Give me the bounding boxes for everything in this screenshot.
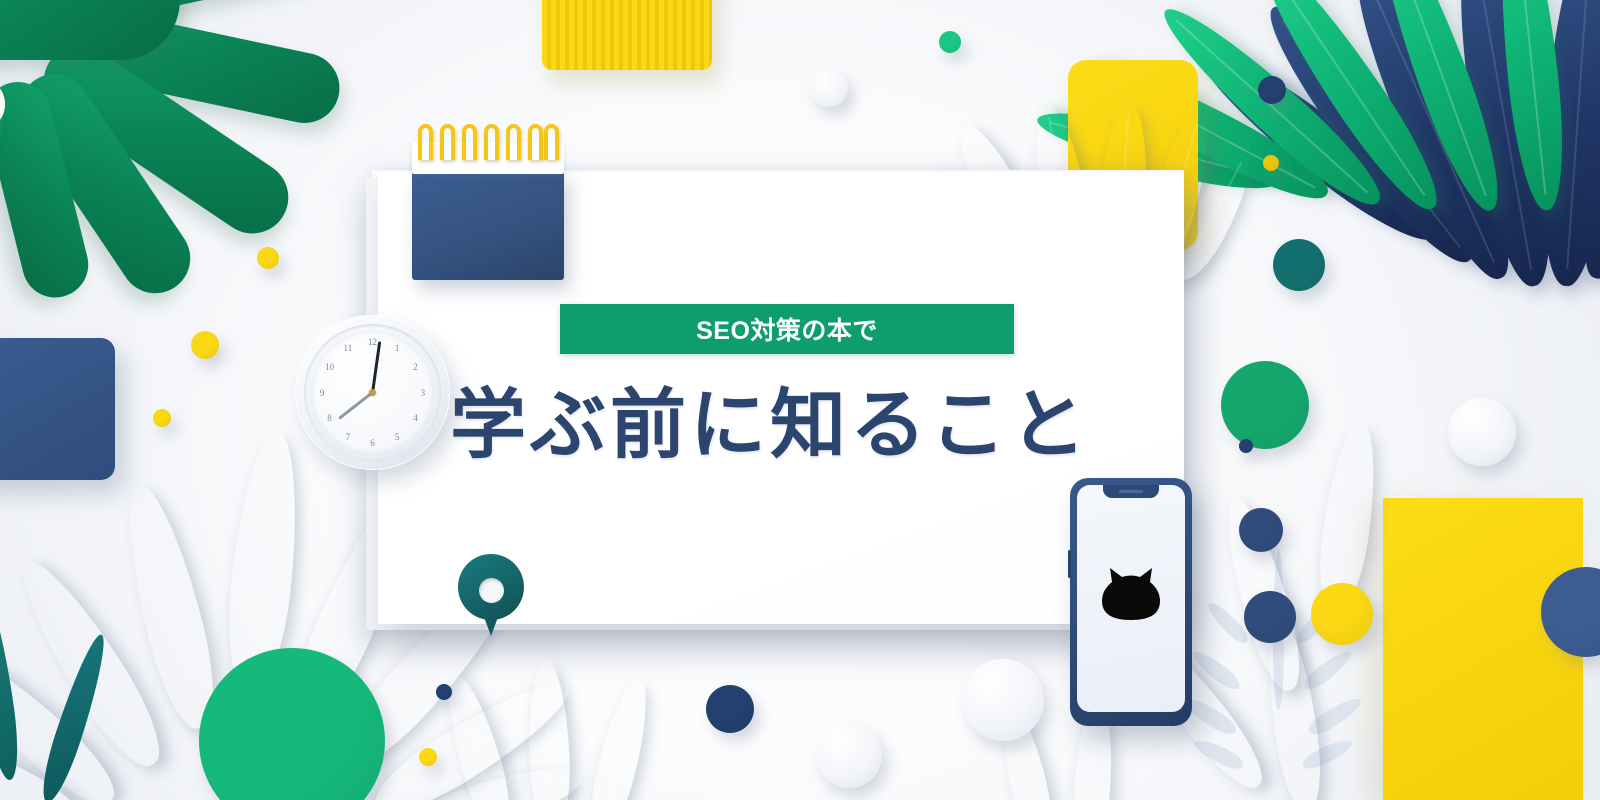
top-right-frond-cluster (1290, 0, 1600, 380)
monstera-leaf-decoration (0, 0, 360, 310)
spiral-notepad (404, 120, 564, 280)
clock-minute-hand (371, 341, 381, 393)
cat-head-logo-icon (1098, 566, 1164, 624)
clock-numeral: 12 (368, 337, 377, 347)
phone-side-button (1068, 550, 1071, 578)
notepad-coil (544, 124, 559, 160)
map-pin-hole (479, 578, 504, 603)
notepad-coil (528, 124, 543, 160)
clock-numeral: 11 (344, 343, 353, 353)
notepad-cover (412, 170, 564, 280)
clock-hour-hand (339, 392, 374, 420)
clock-face: 12 1 2 3 4 5 6 7 8 9 10 11 (311, 331, 434, 454)
white-sphere-bottom-c (816, 722, 882, 788)
white-sphere-right (1448, 398, 1516, 466)
clock-numeral: 6 (370, 438, 375, 448)
clock-numeral: 5 (395, 432, 400, 442)
navy-dot-bottom-small (1239, 439, 1253, 453)
subtitle-text: SEO対策の本で (696, 311, 878, 347)
notepad-coil (440, 124, 455, 160)
page-title-text: 学ぶ前に知ること (450, 388, 1090, 464)
clock-numeral: 3 (421, 388, 426, 398)
clock-numeral: 1 (395, 343, 400, 353)
bottom-left-teal-leaves (0, 590, 180, 800)
yellow-dot-left (191, 331, 219, 359)
notepad-coil (484, 124, 499, 160)
subtitle-banner: SEO対策の本で (560, 304, 1014, 354)
yellow-dot-left-small (153, 409, 171, 427)
yellow-ribbed-block (542, 0, 712, 70)
hero-banner: 12 1 2 3 4 5 6 7 8 9 10 11 SEO対策の本で 学ぶ前に… (0, 0, 1600, 800)
notepad-coil (462, 124, 477, 160)
clock-numeral: 8 (327, 413, 332, 423)
clock-numeral: 7 (346, 432, 351, 442)
phone-speaker (1119, 490, 1143, 493)
white-sphere-top (810, 69, 848, 107)
map-pin-icon (458, 554, 524, 636)
page-title: 学ぶ前に知ること (450, 378, 1150, 474)
teal-leaf-bottom-right (1300, 742, 1420, 800)
notepad-coil (418, 124, 433, 160)
notepad-coil (506, 124, 521, 160)
smartphone-mockup (1070, 478, 1192, 726)
clock-numeral: 9 (320, 388, 325, 398)
clock-numeral: 2 (413, 362, 418, 372)
clock-numeral: 4 (413, 413, 418, 423)
green-dot-top (939, 31, 961, 53)
clock-numeral: 10 (325, 362, 334, 372)
clock-center-pin (369, 389, 376, 396)
wall-clock: 12 1 2 3 4 5 6 7 8 9 10 11 (295, 315, 450, 470)
bottom-center-navy-leaves (470, 660, 730, 800)
phone-notch (1103, 485, 1159, 498)
